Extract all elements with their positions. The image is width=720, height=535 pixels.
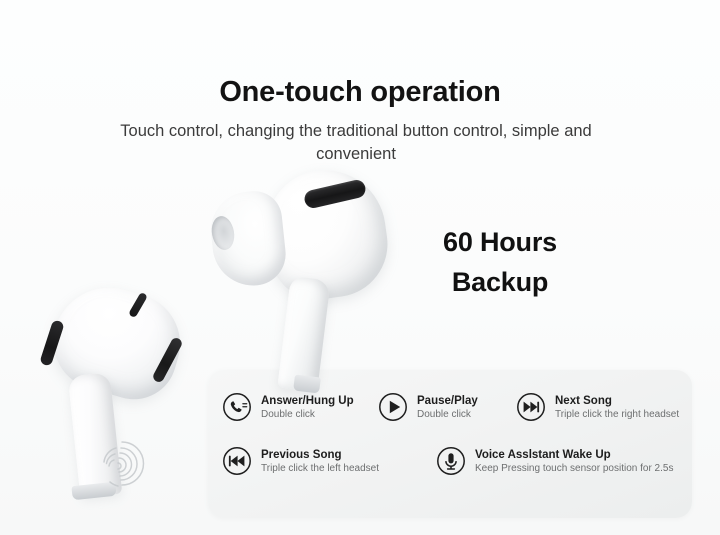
control-item-title: Next Song [555, 394, 679, 408]
previous-track-icon [222, 446, 252, 476]
wireless-earbud-left [26, 286, 206, 516]
control-item-description: Double click [261, 408, 354, 421]
control-item-voice-assistant: Voice Asslstant Wake Up Keep Pressing to… [436, 446, 673, 476]
control-item-description: Triple click the left headset [261, 462, 379, 475]
control-item-answer: Answer/Hung Up Double click [222, 392, 354, 422]
phone-answer-icon [222, 392, 252, 422]
next-track-icon [516, 392, 546, 422]
earbud-right-stem-tip [293, 374, 321, 393]
control-item-description: Double click [417, 408, 478, 421]
control-item-description: Keep Pressing touch sensor position for … [475, 462, 673, 475]
control-item-title: Answer/Hung Up [261, 394, 354, 408]
control-item-next-song: Next Song Triple click the right headset [516, 392, 679, 422]
battery-hours-line: 60 Hours [400, 222, 600, 262]
control-item-title: Pause/Play [417, 394, 478, 408]
microphone-icon [436, 446, 466, 476]
control-item-pause-play: Pause/Play Double click [378, 392, 478, 422]
battery-backup-callout: 60 Hours Backup [400, 222, 600, 302]
wireless-earbud-right [206, 168, 406, 393]
page-subtitle: Touch control, changing the traditional … [96, 120, 616, 166]
control-item-previous-song: Previous Song Triple click the left head… [222, 446, 379, 476]
play-icon [378, 392, 408, 422]
control-item-description: Triple click the right headset [555, 408, 679, 421]
page-title: One-touch operation [0, 76, 720, 109]
fingerprint-icon [94, 438, 148, 496]
control-item-title: Previous Song [261, 448, 379, 462]
battery-backup-line: Backup [400, 262, 600, 302]
product-feature-banner: One-touch operation Touch control, chang… [0, 0, 720, 535]
control-item-title: Voice Asslstant Wake Up [475, 448, 673, 462]
